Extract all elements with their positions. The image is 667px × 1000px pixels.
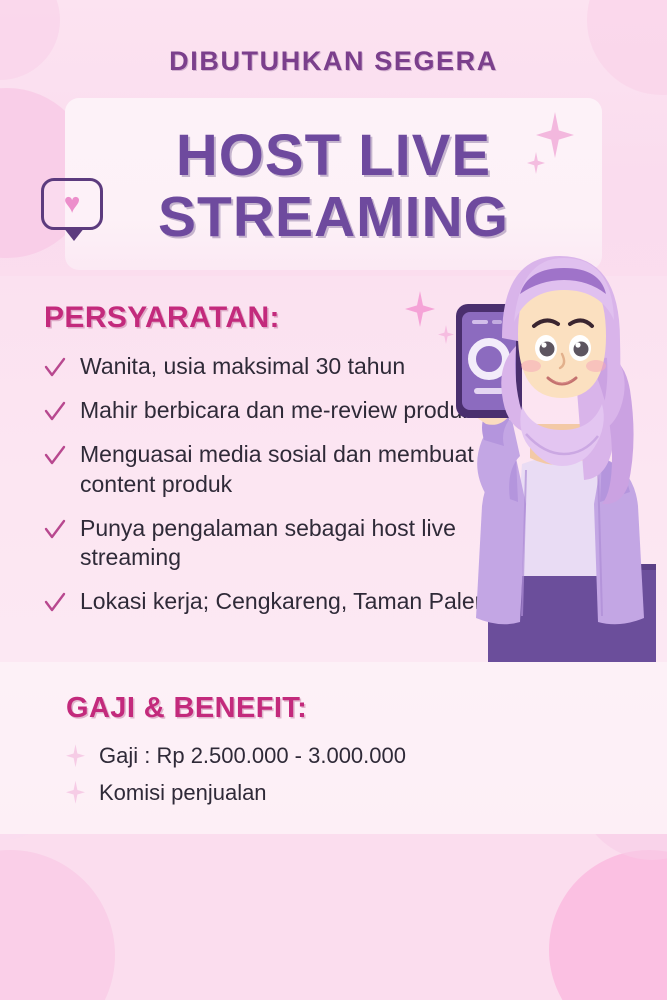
check-icon <box>44 591 66 615</box>
list-item-label: Mahir berbicara dan me-review produk <box>80 396 474 426</box>
check-icon <box>44 444 66 468</box>
heart-icon: ♥ <box>64 189 81 217</box>
list-item-label: Komisi penjualan <box>99 779 267 807</box>
poster: DIBUTUHKAN SEGERA HOST LIVE STREAMING ♥ … <box>0 0 667 1000</box>
benefits-list: Gaji : Rp 2.500.000 - 3.000.000 Komisi p… <box>66 742 536 815</box>
kicker-text: DIBUTUHKAN SEGERA <box>0 46 667 77</box>
background-blob-bottom-right <box>549 850 667 1000</box>
list-item-label: Menguasai media sosial dan membuat conte… <box>80 440 490 500</box>
check-icon <box>44 356 66 380</box>
list-item-label: Punya pengalaman sebagai host live strea… <box>80 514 490 574</box>
sparkle-icon <box>66 744 85 767</box>
check-icon <box>44 518 66 542</box>
list-item-label: Wanita, usia maksimal 30 tahun <box>80 352 405 382</box>
check-icon <box>44 400 66 424</box>
sparkle-icon <box>66 781 85 804</box>
requirements-heading: PERSYARATAN: <box>44 301 280 335</box>
benefits-heading: GAJI & BENEFIT: <box>66 692 307 725</box>
background-blob-bottom-left <box>0 850 115 1000</box>
list-item-label: Gaji : Rp 2.500.000 - 3.000.000 <box>99 742 406 770</box>
speech-bubble-icon: ♥ <box>41 178 103 230</box>
title-line-1: HOST LIVE <box>176 126 491 185</box>
list-item: Gaji : Rp 2.500.000 - 3.000.000 <box>66 742 536 770</box>
list-item: Komisi penjualan <box>66 779 536 807</box>
host-character-illustration <box>430 226 667 662</box>
